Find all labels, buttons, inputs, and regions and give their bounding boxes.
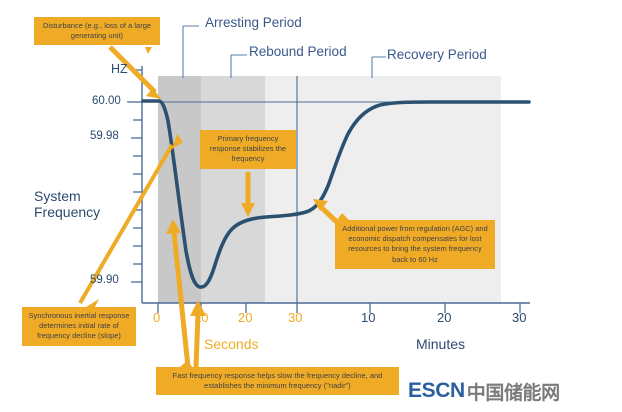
y-axis-ticks bbox=[128, 70, 142, 282]
period-label-rebound: Rebound Period bbox=[249, 44, 347, 59]
x-tick-label-seconds-10: 10 bbox=[194, 310, 208, 325]
x-axis-ticks bbox=[158, 303, 520, 313]
callout-disturbance: Disturbance (e.g., loss of a large gener… bbox=[34, 17, 160, 45]
tail-disturbance bbox=[145, 47, 152, 54]
x-tick-label-minutes-10: 10 bbox=[361, 310, 375, 325]
tail-synchronous bbox=[86, 299, 99, 307]
x-axis-title-seconds: Seconds bbox=[204, 336, 258, 352]
callout-synchronous-inertial-response: Synchronous inertial response determines… bbox=[22, 307, 136, 346]
watermark: ESCN 中国储能网 bbox=[408, 378, 560, 404]
x-tick-label-seconds-20: 20 bbox=[238, 310, 252, 325]
band-recovery bbox=[265, 76, 501, 303]
callout-fast-frequency-response: Fast frequency response helps slow the f… bbox=[156, 367, 399, 395]
x-axis-title-minutes: Minutes bbox=[416, 336, 465, 352]
leader-arresting bbox=[183, 26, 199, 78]
x-tick-label-seconds-0: 0 bbox=[153, 310, 160, 325]
y-tick-label-59-90: 59.90 bbox=[90, 274, 119, 286]
period-label-arresting: Arresting Period bbox=[205, 15, 302, 30]
frequency-response-diagram: Arresting Period Rebound Period Recovery… bbox=[0, 0, 622, 412]
y-axis-unit-label: HZ bbox=[111, 62, 128, 76]
x-tick-label-seconds-30: 30 bbox=[288, 310, 302, 325]
leader-rebound bbox=[231, 55, 247, 78]
leader-recovery bbox=[372, 57, 386, 78]
x-tick-label-minutes-30: 30 bbox=[512, 310, 526, 325]
y-tick-label-59-98: 59.98 bbox=[90, 130, 119, 142]
band-rebound bbox=[201, 76, 265, 303]
watermark-latin: ESCN bbox=[408, 379, 465, 403]
y-axis-title: System Frequency bbox=[34, 188, 120, 220]
callout-primary-frequency-response: Primary frequency response stabilizes th… bbox=[200, 130, 296, 169]
period-label-recovery: Recovery Period bbox=[387, 47, 487, 62]
y-tick-label-60-00: 60.00 bbox=[92, 95, 121, 107]
callout-additional-power: Additional power from regulation (AGC) a… bbox=[335, 220, 495, 269]
watermark-chinese: 中国储能网 bbox=[467, 378, 560, 405]
x-tick-label-minutes-20: 20 bbox=[437, 310, 451, 325]
